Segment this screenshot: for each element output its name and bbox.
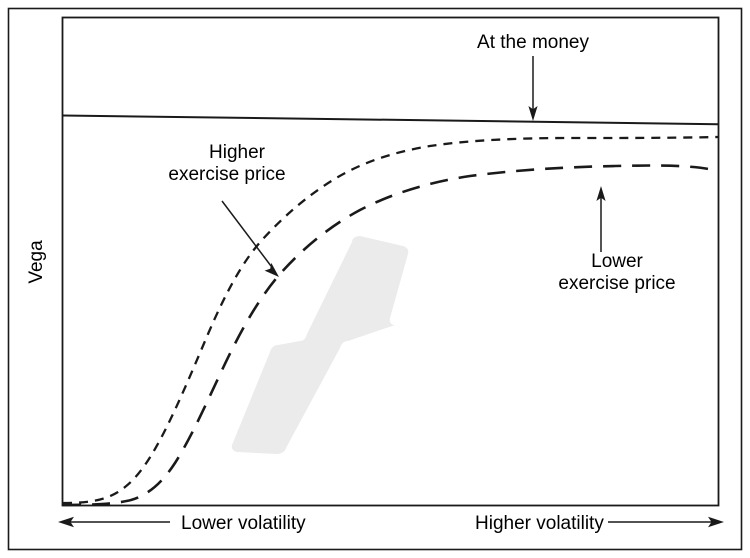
x-axis-label-higher-volatility: Higher volatility xyxy=(475,513,604,534)
annotation-higher-exercise-price-line2: exercise price xyxy=(168,164,285,185)
annotation-lower-exercise-price-line2: exercise price xyxy=(558,273,675,294)
vega-volatility-chart: At the money Higher exercise price Lower… xyxy=(0,0,750,558)
y-axis-label: Vega xyxy=(26,240,47,284)
annotation-lower-exercise-price-line1: Lower xyxy=(591,251,643,272)
x-axis-label-lower-volatility: Lower volatility xyxy=(181,513,306,534)
annotation-at-the-money: At the money xyxy=(477,32,589,53)
figure-container: At the money Higher exercise price Lower… xyxy=(0,0,750,558)
annotation-higher-exercise-price-line1: Higher xyxy=(209,142,266,163)
